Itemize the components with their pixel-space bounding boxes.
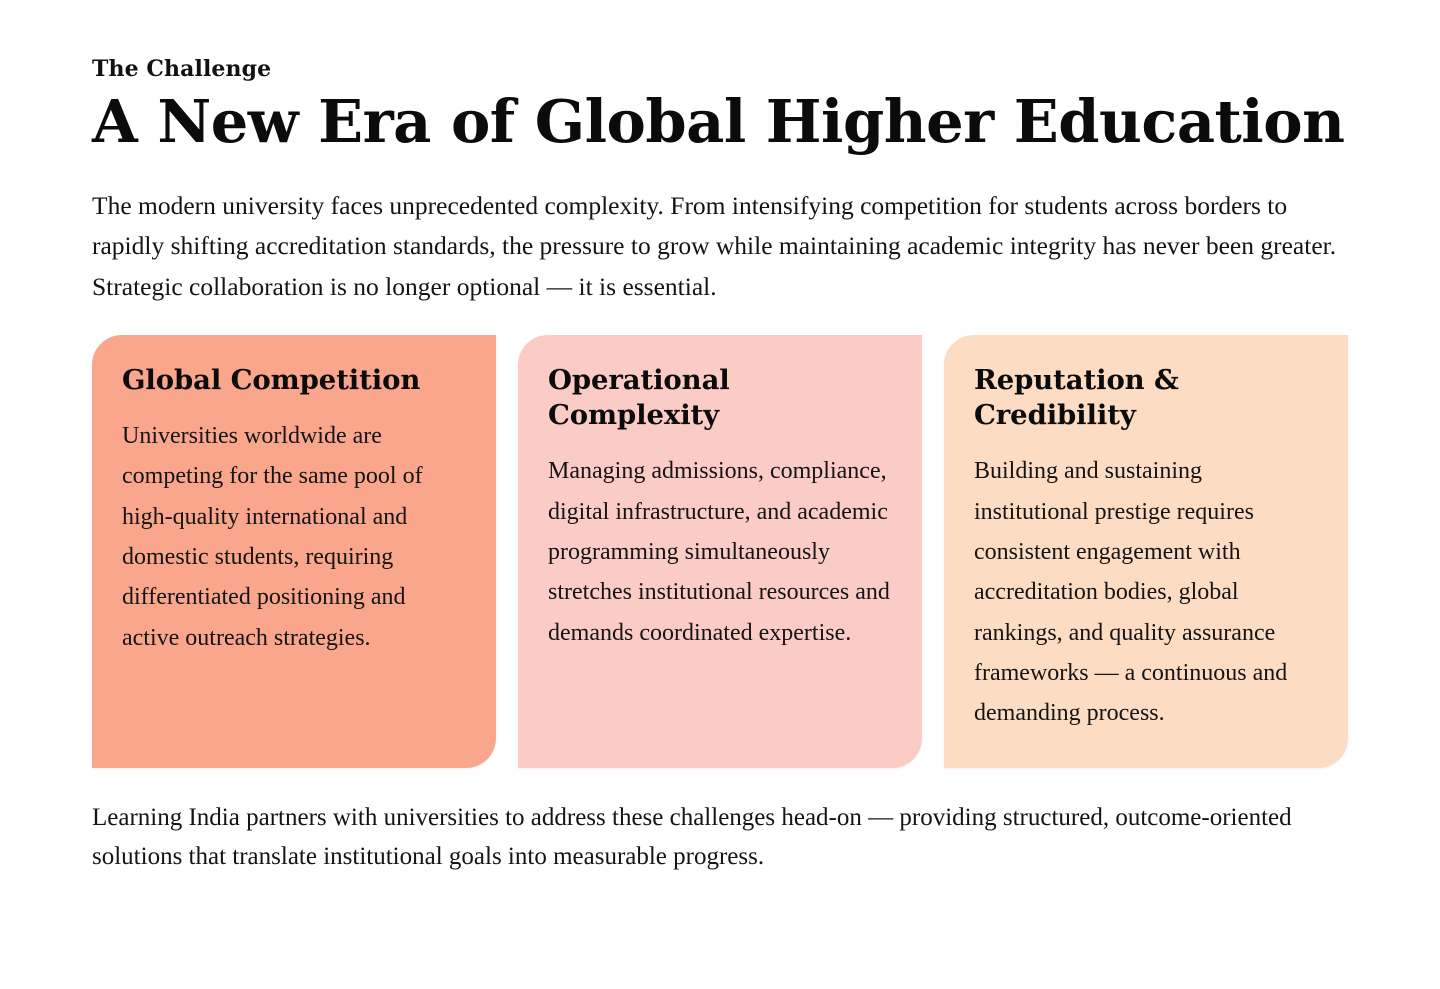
slide-page: The Challenge A New Era of Global Higher… <box>0 0 1440 989</box>
outro-paragraph: Learning India partners with universitie… <box>92 798 1322 877</box>
card-body: Building and sustaining institutional pr… <box>974 451 1318 733</box>
card-title: Global Competition <box>122 363 466 398</box>
card-title: Operational Complexity <box>548 363 892 433</box>
section-kicker: The Challenge <box>92 56 1348 82</box>
challenge-card-reputation-credibility: Reputation & Credibility Building and su… <box>944 335 1348 768</box>
challenge-card-list: Global Competition Universities worldwid… <box>92 335 1348 768</box>
challenge-card-global-competition: Global Competition Universities worldwid… <box>92 335 496 768</box>
card-body: Universities worldwide are competing for… <box>122 416 466 658</box>
card-title: Reputation & Credibility <box>974 363 1318 433</box>
intro-paragraph: The modern university faces unprecedente… <box>92 186 1348 307</box>
card-body: Managing admissions, compliance, digital… <box>548 451 892 653</box>
challenge-card-operational-complexity: Operational Complexity Managing admissio… <box>518 335 922 768</box>
page-title: A New Era of Global Higher Education <box>92 90 1348 154</box>
